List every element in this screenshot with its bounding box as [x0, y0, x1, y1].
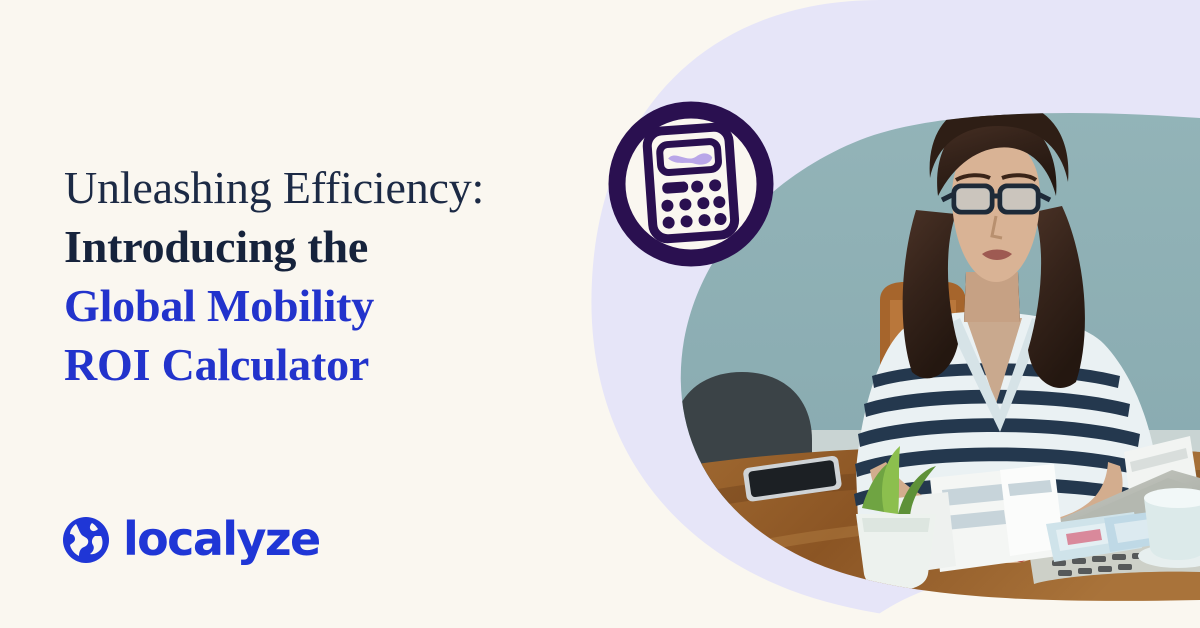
logo-wordmark: localyze: [123, 516, 320, 562]
globe-icon: [62, 516, 110, 564]
headline: Unleashing Efficiency: Introducing the G…: [64, 158, 564, 394]
localyze-logo[interactable]: localyze: [62, 516, 320, 564]
headline-line-1: Unleashing Efficiency:: [64, 158, 564, 217]
headline-line-3: Global Mobility: [64, 276, 564, 335]
marketing-banner: Unleashing Efficiency: Introducing the G…: [0, 0, 1200, 628]
headline-line-2: Introducing the: [64, 217, 564, 276]
headline-line-4: ROI Calculator: [64, 335, 564, 394]
calculator-badge: [600, 93, 782, 275]
calculator-icon: [600, 93, 782, 275]
